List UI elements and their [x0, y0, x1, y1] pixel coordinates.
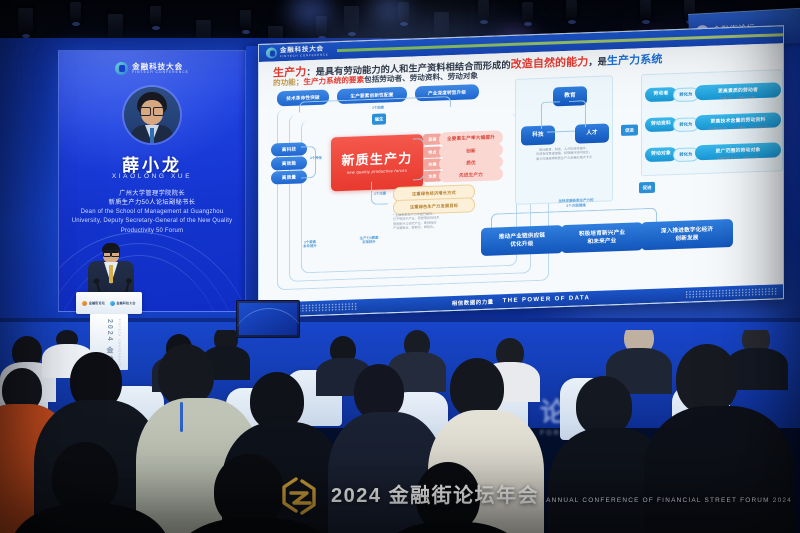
mindmap-canvas: 技术革命性突破 生产要素创新性配置 产业深度转型升级 3个因素 催生 高科技 高…	[259, 73, 783, 303]
core-concept-cn: 新质生产力	[341, 150, 412, 169]
slide-footer-en: THE POWER OF DATA	[503, 295, 591, 304]
heading-text-3: 的功能；	[273, 77, 303, 87]
podium-top: 金融街论坛 金融科技大会	[76, 292, 142, 314]
promote-arrow-tag: 促进	[621, 124, 638, 136]
attribute-value-4: 先进生产力	[439, 167, 503, 182]
measures-arrow-tag: 促进	[639, 182, 655, 194]
focus-count-label: 2个注重	[371, 191, 389, 196]
triangle-edge-2	[569, 100, 586, 128]
slide-logo-label: 金融科技大会 FINTECH CONFERENCE	[280, 46, 329, 58]
audience-head	[450, 358, 504, 418]
fintech-logo-mark	[115, 62, 128, 75]
measure-node-3: 深入推进数字化经济 创新发展	[641, 219, 733, 250]
avatar-tie	[150, 128, 154, 143]
stage-light	[478, 0, 489, 22]
podium-logo-fintech: 金融科技大会	[110, 301, 136, 306]
slide-footnote: * 主轴新质生产力不是万能的， 它不等同于产业、而是落后的技术 而是新兴与现代产…	[393, 210, 473, 231]
speaker-title-en: Dean of the School of Management at Guan…	[67, 208, 237, 236]
fintech-logo-en: FINTECH CONFERENCE	[132, 71, 189, 75]
event-brand-text: 2024 金融街论坛年会 ANNUAL CONFERENCE OF FINANC…	[331, 486, 792, 507]
speaker-avatar	[124, 87, 180, 143]
podium-logo-forum: 金融街论坛	[82, 301, 105, 306]
stage-light	[640, 0, 651, 22]
audience-head	[158, 344, 214, 406]
uplift-realization-label: 生产力3要素 实现跃升	[351, 235, 387, 245]
financial-street-forum-mark-icon	[276, 473, 322, 519]
slide-footer-cn: 相信数据的力量	[452, 298, 494, 308]
stage-light	[150, 6, 161, 28]
stage-light	[522, 2, 533, 24]
measure-node-1: 推动产业链供应链 优化升级	[481, 225, 563, 256]
lanyard	[180, 402, 183, 432]
glasses-icon	[140, 107, 164, 114]
podium-logo-fintech-text: 金融科技大会	[116, 301, 135, 305]
uplift-condition-label: 3个要素 条件提升	[293, 240, 327, 250]
heading-emph-elements: 生产力系统的要素	[303, 75, 364, 86]
audience-head	[576, 376, 632, 436]
measure-node-2: 积极培育新兴产业 和未来产业	[561, 222, 643, 253]
forum-mark-icon	[82, 301, 87, 306]
speaker-glasses-icon	[103, 250, 120, 255]
fintech-logo-label: 金融科技大会 FINTECH CONFERENCE	[132, 63, 189, 75]
podium-logo-forum-text: 金融街论坛	[89, 301, 105, 305]
slide-body: 生产力：是具有劳动能力的人和生产资料相结合而形成的改造自然的能力，是生产力系统 …	[259, 43, 783, 303]
event-brand-year: 2024	[331, 485, 382, 507]
audience-head	[214, 454, 284, 528]
speaker-title-cn-1: 广州大学管理学院院长	[59, 188, 245, 197]
event-brand-title-cn: 金融街论坛年会	[389, 485, 540, 507]
speaker-title-cn-2: 新质生产力50人论坛副秘书长	[59, 197, 245, 206]
stage-light	[18, 8, 33, 36]
core-concept-en: new quality productive forces	[347, 168, 407, 175]
stage-light	[316, 16, 327, 38]
footer-dot-pattern-right	[685, 287, 777, 298]
measures-label: 加快发展新质生产力的 3个方面措施	[537, 197, 615, 209]
feature-connector	[301, 146, 316, 179]
event-brand-title-en: ANNUAL CONFERENCE OF FINANCIAL STREET FO…	[546, 497, 792, 504]
catalyze-arrow-tag: 催生	[372, 113, 386, 125]
stage-light	[70, 2, 81, 24]
feature-count-label: 3个特征	[305, 156, 327, 161]
speaker-name-en: XIAOLONG XUE	[59, 173, 245, 180]
slide-logo-mark	[266, 47, 277, 58]
stage-light	[566, 0, 577, 22]
event-brand-lockup: 2024 金融街论坛年会 ANNUAL CONFERENCE OF FINANC…	[276, 473, 792, 519]
presentation-screen: 金融科技大会 FINTECH CONFERENCE 生产力：是具有劳动能力的人和…	[258, 25, 784, 318]
heading-text-4: 包括劳动者、劳动资料、劳动对象	[364, 71, 478, 84]
fintech-mark-icon	[110, 301, 115, 306]
stage-light	[240, 10, 251, 32]
triangle-edge-1	[541, 101, 560, 129]
slide-logo-en: FINTECH CONFERENCE	[280, 53, 329, 58]
speaker-tie	[109, 265, 113, 283]
audience-head	[676, 344, 738, 414]
event-brand-title: 2024 金融街论坛年会	[331, 485, 546, 507]
fintech-conference-logo: 金融科技大会 FINTECH CONFERENCE	[115, 62, 189, 75]
speaker-intro-screen: 金融科技大会 FINTECH CONFERENCE 薛小龙 XIAOLONG X…	[58, 50, 246, 312]
conference-photo: 金融街论坛 金融科技大会 FINTECH CONFERENCE 薛小龙 XIAO…	[0, 0, 800, 533]
